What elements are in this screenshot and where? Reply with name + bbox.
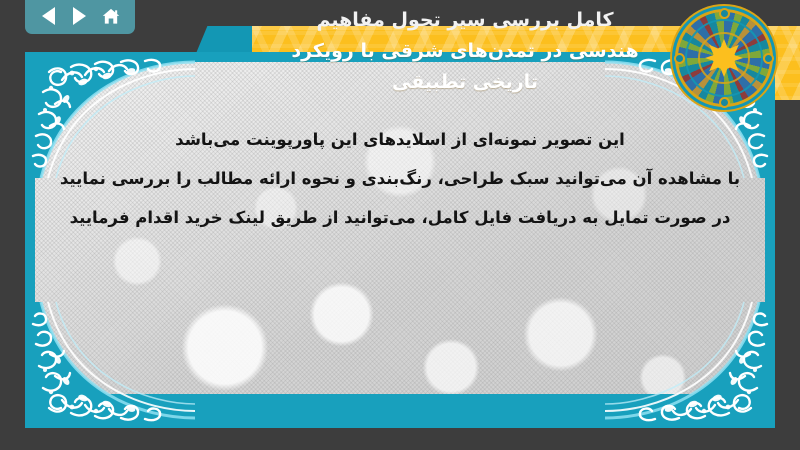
- medallion-knob-right: [763, 53, 774, 64]
- body-line-1: این تصویر نمونه‌ای از اسلایدهای این پاور…: [40, 120, 760, 159]
- slide-root: کامل بررسی سیر تحول مفاهیم هندسی در تمدن…: [0, 0, 800, 450]
- bottom-backdrop: [0, 428, 800, 450]
- arrow-left-icon: [42, 7, 55, 25]
- body-line-2: با مشاهده آن می‌توانید سبک طراحی، رنگ‌بن…: [40, 159, 760, 198]
- medallion-knob-top: [719, 8, 730, 19]
- arrow-right-icon: [73, 7, 86, 25]
- next-slide-button[interactable]: [67, 4, 93, 28]
- medallion-knob-bottom: [719, 97, 730, 108]
- body-line-3: در صورت تمایل به دریافت فایل کامل، می‌تو…: [40, 198, 760, 237]
- home-icon: [101, 7, 121, 26]
- slide-body-text: این تصویر نمونه‌ای از اسلایدهای این پاور…: [40, 120, 760, 237]
- ornamental-medallion-icon: [678, 12, 770, 104]
- content-frame: [25, 52, 775, 428]
- medallion-knob-left: [674, 53, 685, 64]
- previous-slide-button[interactable]: [36, 4, 62, 28]
- navigation-bar: [25, 0, 135, 34]
- home-button[interactable]: [98, 4, 124, 28]
